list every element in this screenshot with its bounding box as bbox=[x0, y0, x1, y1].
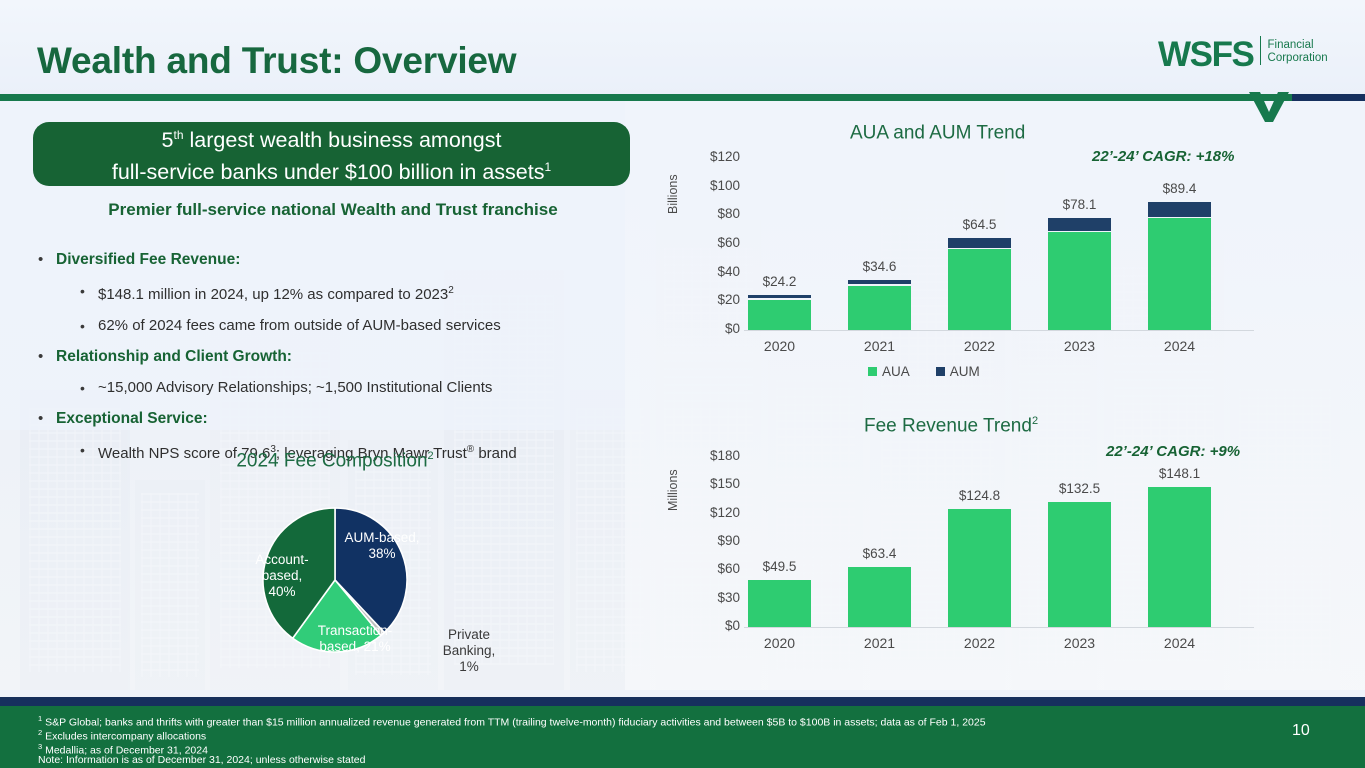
footer-navy-strip bbox=[0, 697, 1365, 706]
footnote-ref: 2 bbox=[448, 285, 454, 296]
x-axis-tick: 2020 bbox=[733, 635, 826, 651]
cagr-annotation: 22’-24’ CAGR: +9% bbox=[1106, 443, 1240, 460]
y-axis-tick: $20 bbox=[678, 292, 740, 307]
header-divider bbox=[0, 94, 1365, 101]
bullet-dot-icon: • bbox=[80, 315, 98, 337]
legend-label: AUM bbox=[950, 364, 980, 379]
x-axis-tick: 2023 bbox=[1033, 635, 1126, 651]
bullet-item-diversified-fee-revenue: • Diversified Fee Revenue: bbox=[38, 249, 628, 271]
pie-slice-label: AUM-based,38% bbox=[332, 530, 432, 562]
x-axis-tick: 2023 bbox=[1033, 338, 1126, 354]
chart-bar bbox=[848, 567, 911, 627]
y-axis-tick: $100 bbox=[678, 178, 740, 193]
y-axis-tick: $90 bbox=[678, 533, 740, 548]
bullet-dot-icon: • bbox=[38, 346, 56, 368]
x-axis-baseline bbox=[744, 627, 1254, 628]
sub-bullet-item: • ~15,000 Advisory Relationships; ~1,500… bbox=[80, 377, 628, 399]
subheading: Premier full-service national Wealth and… bbox=[33, 200, 633, 220]
bullet-heading: Exceptional Service: bbox=[56, 408, 208, 430]
bar-segment-aum bbox=[1148, 202, 1211, 217]
page-number: 10 bbox=[1292, 722, 1310, 740]
chart-bar bbox=[1048, 502, 1111, 627]
bar-data-label: $89.4 bbox=[1136, 181, 1223, 196]
logo-sub-line2: Corporation bbox=[1268, 52, 1328, 65]
callout-text: 5th largest wealth business amongst full… bbox=[112, 122, 551, 186]
chart-bar bbox=[948, 509, 1011, 627]
bullet-heading: Relationship and Client Growth: bbox=[56, 346, 292, 368]
bar-segment bbox=[948, 509, 1011, 627]
y-axis-tick: $120 bbox=[678, 149, 740, 164]
callout-line1-prefix: 5 bbox=[162, 128, 174, 152]
bar-segment bbox=[748, 580, 811, 627]
bar-segment-aua bbox=[1148, 218, 1211, 330]
chart-bar bbox=[748, 295, 811, 330]
header-divider-navy-accent bbox=[1292, 94, 1365, 101]
footnote-ref: 2 bbox=[428, 450, 434, 462]
pie-slice-label: Account-based,40% bbox=[240, 552, 324, 600]
sub-bullet-item: • $148.1 million in 2024, up 12% as comp… bbox=[80, 280, 628, 306]
pie-slice-label: Transaction-based, 21% bbox=[300, 623, 410, 655]
bar-segment-aum bbox=[948, 238, 1011, 248]
y-axis-tick: $60 bbox=[678, 235, 740, 250]
bullet-dot-icon: • bbox=[38, 408, 56, 430]
bullet-item-relationship-client-growth: • Relationship and Client Growth: bbox=[38, 346, 628, 368]
x-axis-tick: 2020 bbox=[733, 338, 826, 354]
legend-item: AUM bbox=[936, 364, 980, 379]
logo-wordmark: WSFS bbox=[1158, 36, 1254, 74]
bar-data-label: $49.5 bbox=[736, 559, 823, 574]
bar-data-label: $78.1 bbox=[1036, 197, 1123, 212]
x-axis-baseline bbox=[744, 330, 1254, 331]
y-axis-tick: $40 bbox=[678, 264, 740, 279]
wsfs-w-mark-icon bbox=[1247, 92, 1291, 122]
chart-legend: AUAAUM bbox=[868, 364, 980, 379]
callout-line2-sup: 1 bbox=[544, 160, 551, 174]
y-axis-tick: $80 bbox=[678, 206, 740, 221]
chart-bar bbox=[748, 580, 811, 627]
chart-bar bbox=[1148, 487, 1211, 627]
bar-segment-aua bbox=[748, 300, 811, 330]
bar-segment-aum bbox=[848, 280, 911, 284]
bar-data-label: $24.2 bbox=[736, 274, 823, 289]
sub-bullet-item: • 62% of 2024 fees came from outside of … bbox=[80, 315, 628, 337]
bar-segment bbox=[848, 567, 911, 627]
chart-bar bbox=[1148, 202, 1211, 330]
y-axis-tick: $120 bbox=[678, 505, 740, 520]
x-axis-tick: 2021 bbox=[833, 635, 926, 651]
logo-sub-line1: Financial bbox=[1268, 39, 1328, 52]
bullet-dot-icon: • bbox=[80, 439, 98, 465]
pie-slice-label: PrivateBanking,1% bbox=[424, 627, 514, 675]
callout-pill: 5th largest wealth business amongst full… bbox=[33, 122, 630, 186]
y-axis-tick: $60 bbox=[678, 561, 740, 576]
x-axis-tick: 2022 bbox=[933, 635, 1026, 651]
callout-line2: full-service banks under $100 billion in… bbox=[112, 160, 545, 184]
chart-bar bbox=[848, 280, 911, 330]
x-axis-tick: 2021 bbox=[833, 338, 926, 354]
bullet-heading: Diversified Fee Revenue: bbox=[56, 249, 240, 271]
aua-aum-trend-chart: AUA and AUM Trend 22’-24’ CAGR: +18% Bil… bbox=[650, 122, 1350, 382]
y-axis-tick: $150 bbox=[678, 476, 740, 491]
y-axis-tick: $180 bbox=[678, 448, 740, 463]
y-axis-tick: $0 bbox=[678, 618, 740, 633]
footer-bar: 1 S&P Global; banks and thrifts with gre… bbox=[0, 706, 1365, 768]
sub-bullet-text: 62% of 2024 fees came from outside of AU… bbox=[98, 315, 501, 337]
legend-item: AUA bbox=[868, 364, 910, 379]
bar-segment-aua bbox=[948, 249, 1011, 330]
legend-swatch-icon bbox=[936, 367, 945, 376]
fee-revenue-trend-chart: Fee Revenue Trend2 22’-24’ CAGR: +9% Mil… bbox=[650, 415, 1350, 675]
sub-bullet-text: ~15,000 Advisory Relationships; ~1,500 I… bbox=[98, 377, 492, 399]
wsfs-logo: WSFS Financial Corporation bbox=[1158, 36, 1328, 76]
bullet-list: • Diversified Fee Revenue: • $148.1 mill… bbox=[38, 240, 628, 465]
slide-header: Wealth and Trust: Overview WSFS Financia… bbox=[0, 0, 1365, 100]
slide-canvas: Wealth and Trust: Overview WSFS Financia… bbox=[0, 0, 1365, 768]
chart-bar bbox=[948, 238, 1011, 330]
legend-swatch-icon bbox=[868, 367, 877, 376]
cagr-annotation: 22’-24’ CAGR: +18% bbox=[1092, 148, 1234, 165]
bar-data-label: $148.1 bbox=[1136, 466, 1223, 481]
bar-segment-aum bbox=[748, 295, 811, 298]
sub-bullet-text: $148.1 million in 2024, up 12% as compar… bbox=[98, 280, 454, 306]
bullet-dot-icon: • bbox=[38, 249, 56, 271]
x-axis-tick: 2024 bbox=[1133, 635, 1226, 651]
y-axis-tick: $30 bbox=[678, 590, 740, 605]
bar-segment-aua bbox=[848, 286, 911, 330]
chart-bar bbox=[1048, 218, 1111, 330]
bar-data-label: $132.5 bbox=[1036, 481, 1123, 496]
bar-segment bbox=[1048, 502, 1111, 627]
footnote-note: Note: Information is as of December 31, … bbox=[38, 754, 365, 767]
pie-chart-title: 2024 Fee Composition2 bbox=[120, 450, 550, 472]
legend-label: AUA bbox=[882, 364, 910, 379]
bullet-item-exceptional-service: • Exceptional Service: bbox=[38, 408, 628, 430]
chart-title: AUA and AUM Trend bbox=[850, 122, 1025, 144]
y-axis-tick: $0 bbox=[678, 321, 740, 336]
bullet-dot-icon: • bbox=[80, 280, 98, 306]
x-axis-tick: 2022 bbox=[933, 338, 1026, 354]
bar-segment-aua bbox=[1048, 232, 1111, 330]
callout-line1-rest: largest wealth business amongst bbox=[184, 128, 502, 152]
bar-data-label: $64.5 bbox=[936, 217, 1023, 232]
bar-data-label: $34.6 bbox=[836, 259, 923, 274]
bar-segment bbox=[1148, 487, 1211, 627]
page-title: Wealth and Trust: Overview bbox=[37, 40, 516, 82]
x-axis-tick: 2024 bbox=[1133, 338, 1226, 354]
bar-data-label: $124.8 bbox=[936, 488, 1023, 503]
chart-title: Fee Revenue Trend2 bbox=[864, 415, 1038, 437]
callout-line1-sup: th bbox=[174, 128, 184, 142]
bar-segment-aum bbox=[1048, 218, 1111, 231]
bullet-dot-icon: • bbox=[80, 377, 98, 399]
bar-data-label: $63.4 bbox=[836, 546, 923, 561]
